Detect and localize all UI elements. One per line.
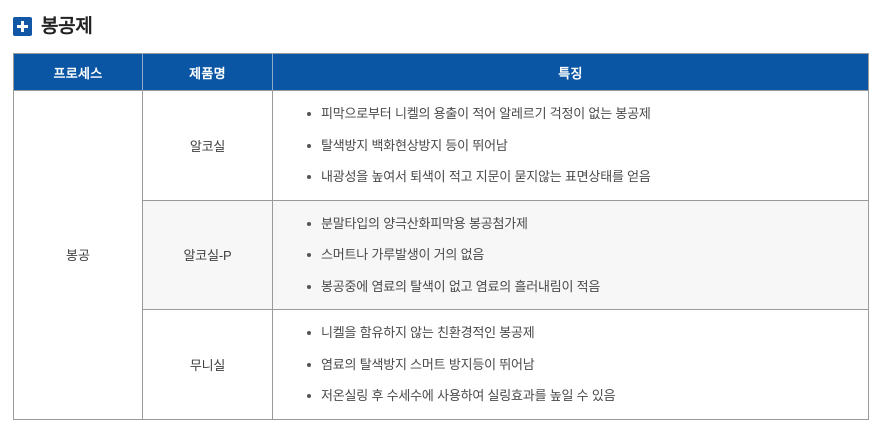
feature-cell: 분말타입의 양극산화피막용 봉공첨가제 스머트나 가루발생이 거의 없음 봉공중… (273, 200, 869, 310)
page-header: 봉공제 (0, 0, 882, 41)
feature-item: 스머트나 가루발생이 거의 없음 (307, 246, 858, 264)
feature-list: 피막으로부터 니켈의 용출이 적어 알레르기 걱정이 없는 봉공제 탈색방지 백… (273, 91, 868, 200)
plus-square-icon (13, 17, 32, 36)
feature-item: 저온실링 후 수세수에 사용하여 실링효과를 높일 수 있음 (307, 387, 858, 405)
feature-cell: 니켈을 함유하지 않는 친환경적인 봉공제 염료의 탈색방지 스머트 방지등이 … (273, 310, 869, 420)
table-header: 프로세스 제품명 특징 (14, 54, 869, 91)
column-header-feature: 특징 (273, 54, 869, 91)
feature-cell: 피막으로부터 니켈의 용출이 적어 알레르기 걱정이 없는 봉공제 탈색방지 백… (273, 91, 869, 201)
product-name-cell: 무니실 (143, 310, 273, 420)
feature-item: 내광성을 높여서 퇴색이 적고 지문이 묻지않는 표면상태를 얻음 (307, 168, 858, 186)
feature-list: 니켈을 함유하지 않는 친환경적인 봉공제 염료의 탈색방지 스머트 방지등이 … (273, 310, 868, 419)
page-title: 봉공제 (41, 17, 93, 36)
feature-item: 니켈을 함유하지 않는 친환경적인 봉공제 (307, 324, 858, 342)
feature-item: 분말타입의 양극산화피막용 봉공첨가제 (307, 215, 858, 233)
sealing-agent-table: 프로세스 제품명 특징 봉공 알코실 피막으로부터 니켈의 용출이 적어 알레르… (13, 53, 869, 420)
spec-table-container: 프로세스 제품명 특징 봉공 알코실 피막으로부터 니켈의 용출이 적어 알레르… (13, 53, 869, 420)
product-name-cell: 알코실-P (143, 200, 273, 310)
process-group-cell: 봉공 (14, 91, 143, 420)
product-name-cell: 알코실 (143, 91, 273, 201)
feature-item: 봉공중에 염료의 탈색이 없고 염료의 흘러내림이 적음 (307, 278, 858, 296)
feature-item: 피막으로부터 니켈의 용출이 적어 알레르기 걱정이 없는 봉공제 (307, 105, 858, 123)
table-row: 봉공 알코실 피막으로부터 니켈의 용출이 적어 알레르기 걱정이 없는 봉공제… (14, 91, 869, 201)
table-row: 무니실 니켈을 함유하지 않는 친환경적인 봉공제 염료의 탈색방지 스머트 방… (14, 310, 869, 420)
feature-item: 탈색방지 백화현상방지 등이 뛰어남 (307, 137, 858, 155)
table-row: 알코실-P 분말타입의 양극산화피막용 봉공첨가제 스머트나 가루발생이 거의 … (14, 200, 869, 310)
column-header-process: 프로세스 (14, 54, 143, 91)
column-header-product: 제품명 (143, 54, 273, 91)
feature-item: 염료의 탈색방지 스머트 방지등이 뛰어남 (307, 356, 858, 374)
feature-list: 분말타입의 양극산화피막용 봉공첨가제 스머트나 가루발생이 거의 없음 봉공중… (273, 201, 868, 310)
table-header-row: 프로세스 제품명 특징 (14, 54, 869, 91)
table-body: 봉공 알코실 피막으로부터 니켈의 용출이 적어 알레르기 걱정이 없는 봉공제… (14, 91, 869, 420)
